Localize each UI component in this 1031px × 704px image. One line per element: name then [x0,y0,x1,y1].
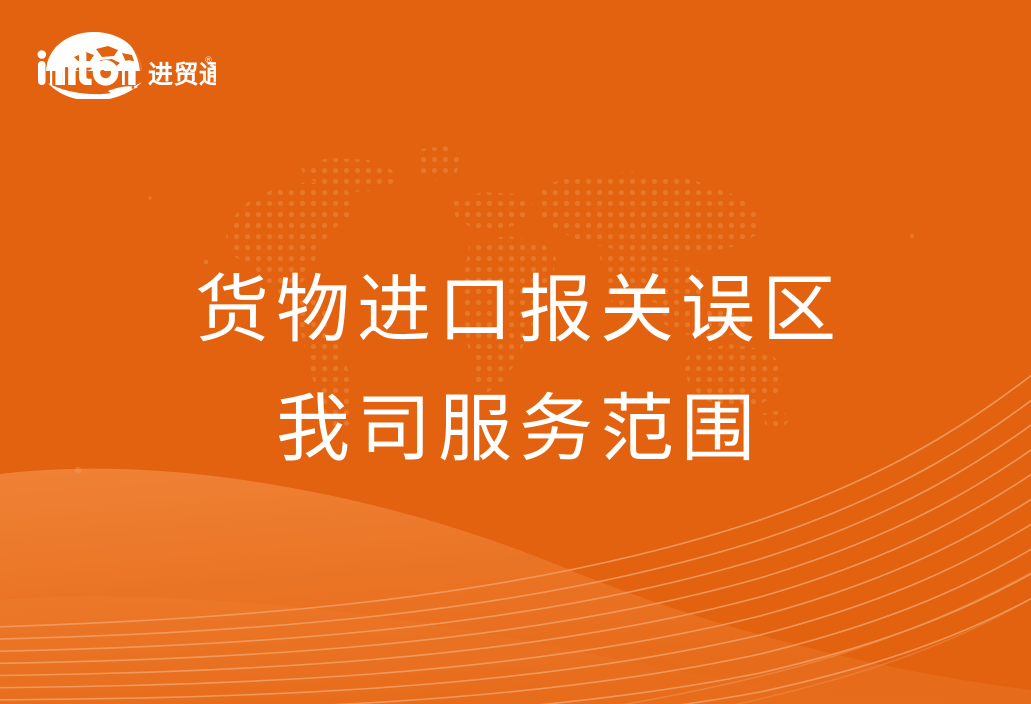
dotted-world-map [200,140,820,450]
company-logo[interactable]: 进贸通 ® [34,27,216,99]
slide-background-decoration [0,0,1031,704]
registered-trademark-icon: ® [204,56,213,66]
presentation-slide: 进贸通 ® 货物进口报关误区 我司服务范围 [0,0,1031,704]
imton-logo-mark: 进贸通 ® [34,27,216,99]
